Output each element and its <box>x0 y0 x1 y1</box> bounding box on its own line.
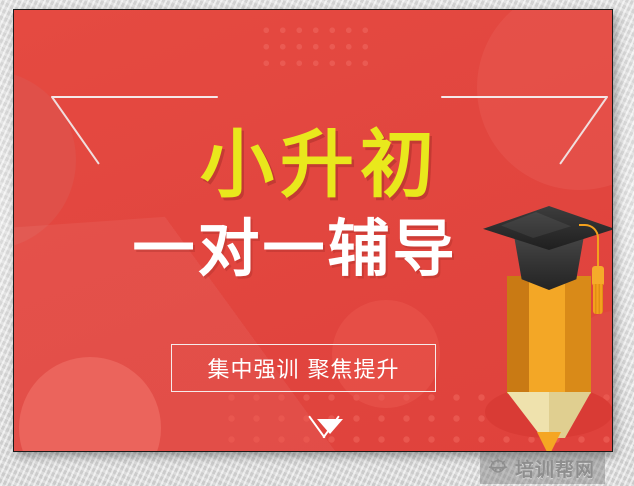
tassel-icon <box>579 224 605 316</box>
watermark: 培训帮网 <box>480 452 605 484</box>
tassel-knot <box>592 266 604 286</box>
page-background: 小升初 一对一辅导 集中强训 聚焦提升 <box>0 0 634 486</box>
pencil-tip <box>507 392 591 444</box>
tagline-text: 集中强训 聚焦提升 <box>208 352 400 384</box>
bracket-horizontal-line <box>51 96 218 98</box>
page-title: 小升初 <box>26 128 613 202</box>
tassel-fringe <box>593 284 603 314</box>
scroll-down-chevron-icon[interactable] <box>303 415 357 449</box>
pencil-facet-center <box>529 276 565 394</box>
graduation-cap-pencil-illustration <box>483 206 613 436</box>
dot-grid-top-icon <box>258 22 370 72</box>
promo-poster: 小升初 一对一辅导 集中强训 聚焦提升 <box>13 9 613 452</box>
sun-face-icon <box>488 458 508 478</box>
pencil-wood-shade <box>549 392 591 438</box>
watermark-text: 培训帮网 <box>515 455 595 482</box>
bracket-horizontal-line <box>441 96 608 98</box>
triangle-down-icon <box>317 419 343 434</box>
tassel-cord <box>579 224 599 268</box>
pencil-facet-left <box>507 276 529 394</box>
tagline-box: 集中强训 聚焦提升 <box>171 344 436 392</box>
